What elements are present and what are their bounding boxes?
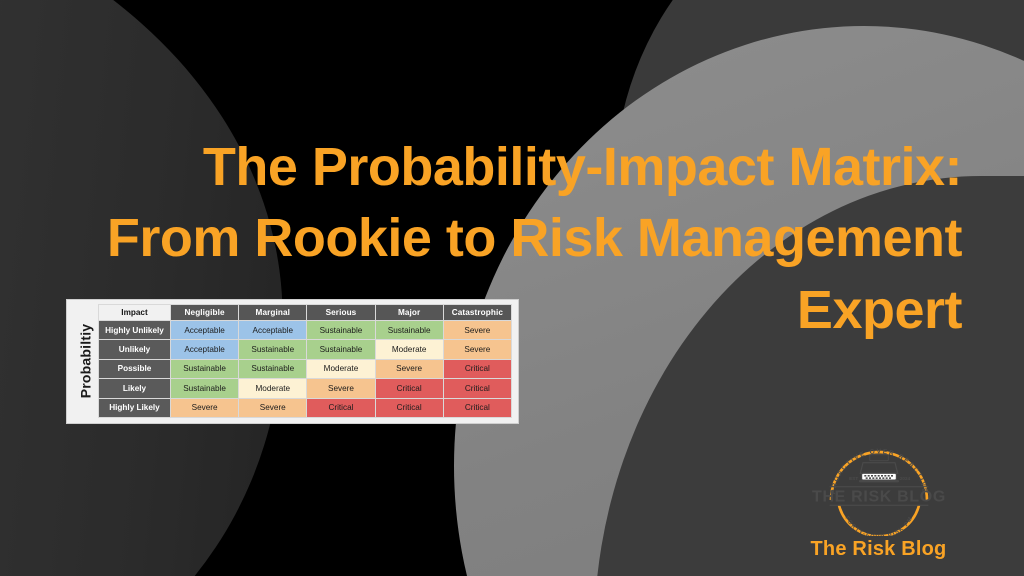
risk-cell: Sustainable xyxy=(307,340,375,359)
risk-cell: Severe xyxy=(443,321,511,340)
risk-blog-badge-logo: PROACTIVE OVER REACTIVE xyxy=(812,436,946,536)
probability-axis-text: Probabiltiy xyxy=(77,324,93,399)
risk-cell: Moderate xyxy=(239,379,307,398)
risk-matrix-table: Impact Negligible Marginal Serious Major… xyxy=(98,304,512,418)
badge-main-text: THE RISK BLOG xyxy=(812,488,946,505)
risk-cell: Critical xyxy=(443,359,511,378)
row-header-possible: Possible xyxy=(99,359,171,378)
risk-cell: Acceptable xyxy=(171,321,239,340)
column-header-negligible: Negligible xyxy=(171,305,239,321)
risk-cell: Severe xyxy=(375,359,443,378)
table-header-row: Impact Negligible Marginal Serious Major… xyxy=(99,305,512,321)
table-row: PossibleSustainableSustainableModerateSe… xyxy=(99,359,512,378)
risk-cell: Critical xyxy=(307,398,375,417)
brand-logo-block: PROACTIVE OVER REACTIVE xyxy=(791,436,966,560)
risk-matrix-table-wrapper: Impact Negligible Marginal Serious Major… xyxy=(98,304,512,418)
badge-bottom-arc-textpath: FORTY-FOUR RISK PM xyxy=(843,516,914,536)
row-header-unlikely: Unlikely xyxy=(99,340,171,359)
column-header-serious: Serious xyxy=(307,305,375,321)
table-row: UnlikelyAcceptableSustainableSustainable… xyxy=(99,340,512,359)
table-row: Highly UnlikelyAcceptableAcceptableSusta… xyxy=(99,321,512,340)
risk-cell: Sustainable xyxy=(171,359,239,378)
row-header-highly-unlikely: Highly Unlikely xyxy=(99,321,171,340)
badge-est-label: EST xyxy=(849,476,858,481)
table-row: Highly LikelySevereSevereCriticalCritica… xyxy=(99,398,512,417)
row-header-likely: Likely xyxy=(99,379,171,398)
risk-cell: Critical xyxy=(443,379,511,398)
typewriter-icon xyxy=(859,455,899,483)
risk-cell: Sustainable xyxy=(239,359,307,378)
risk-cell: Severe xyxy=(239,398,307,417)
risk-cell: Sustainable xyxy=(171,379,239,398)
badge-year-label: 2024 xyxy=(899,476,910,481)
probability-axis-label: Probabiltiy xyxy=(72,304,98,418)
risk-cell: Sustainable xyxy=(375,321,443,340)
badge-bottom-arc-text: FORTY-FOUR RISK PM xyxy=(843,516,914,536)
risk-cell: Acceptable xyxy=(171,340,239,359)
risk-cell: Critical xyxy=(375,398,443,417)
risk-matrix-card: Probabiltiy Impact Negligible Marginal S… xyxy=(66,299,519,424)
row-header-highly-likely: Highly Likely xyxy=(99,398,171,417)
column-header-catastrophic: Catastrophic xyxy=(443,305,511,321)
table-row: LikelySustainableModerateSevereCriticalC… xyxy=(99,379,512,398)
risk-cell: Moderate xyxy=(307,359,375,378)
risk-cell: Sustainable xyxy=(307,321,375,340)
risk-cell: Acceptable xyxy=(239,321,307,340)
slide-canvas: The Probability-Impact Matrix: From Rook… xyxy=(0,0,1024,576)
risk-cell: Moderate xyxy=(375,340,443,359)
risk-cell: Severe xyxy=(171,398,239,417)
risk-cell: Critical xyxy=(443,398,511,417)
impact-header-cell: Impact xyxy=(99,305,171,321)
risk-cell: Sustainable xyxy=(239,340,307,359)
column-header-marginal: Marginal xyxy=(239,305,307,321)
risk-cell: Severe xyxy=(307,379,375,398)
column-header-major: Major xyxy=(375,305,443,321)
risk-matrix-body: Highly UnlikelyAcceptableAcceptableSusta… xyxy=(99,321,512,418)
risk-cell: Critical xyxy=(375,379,443,398)
risk-cell: Severe xyxy=(443,340,511,359)
brand-caption: The Risk Blog xyxy=(791,538,966,560)
risk-matrix-head: Impact Negligible Marginal Serious Major… xyxy=(99,305,512,321)
